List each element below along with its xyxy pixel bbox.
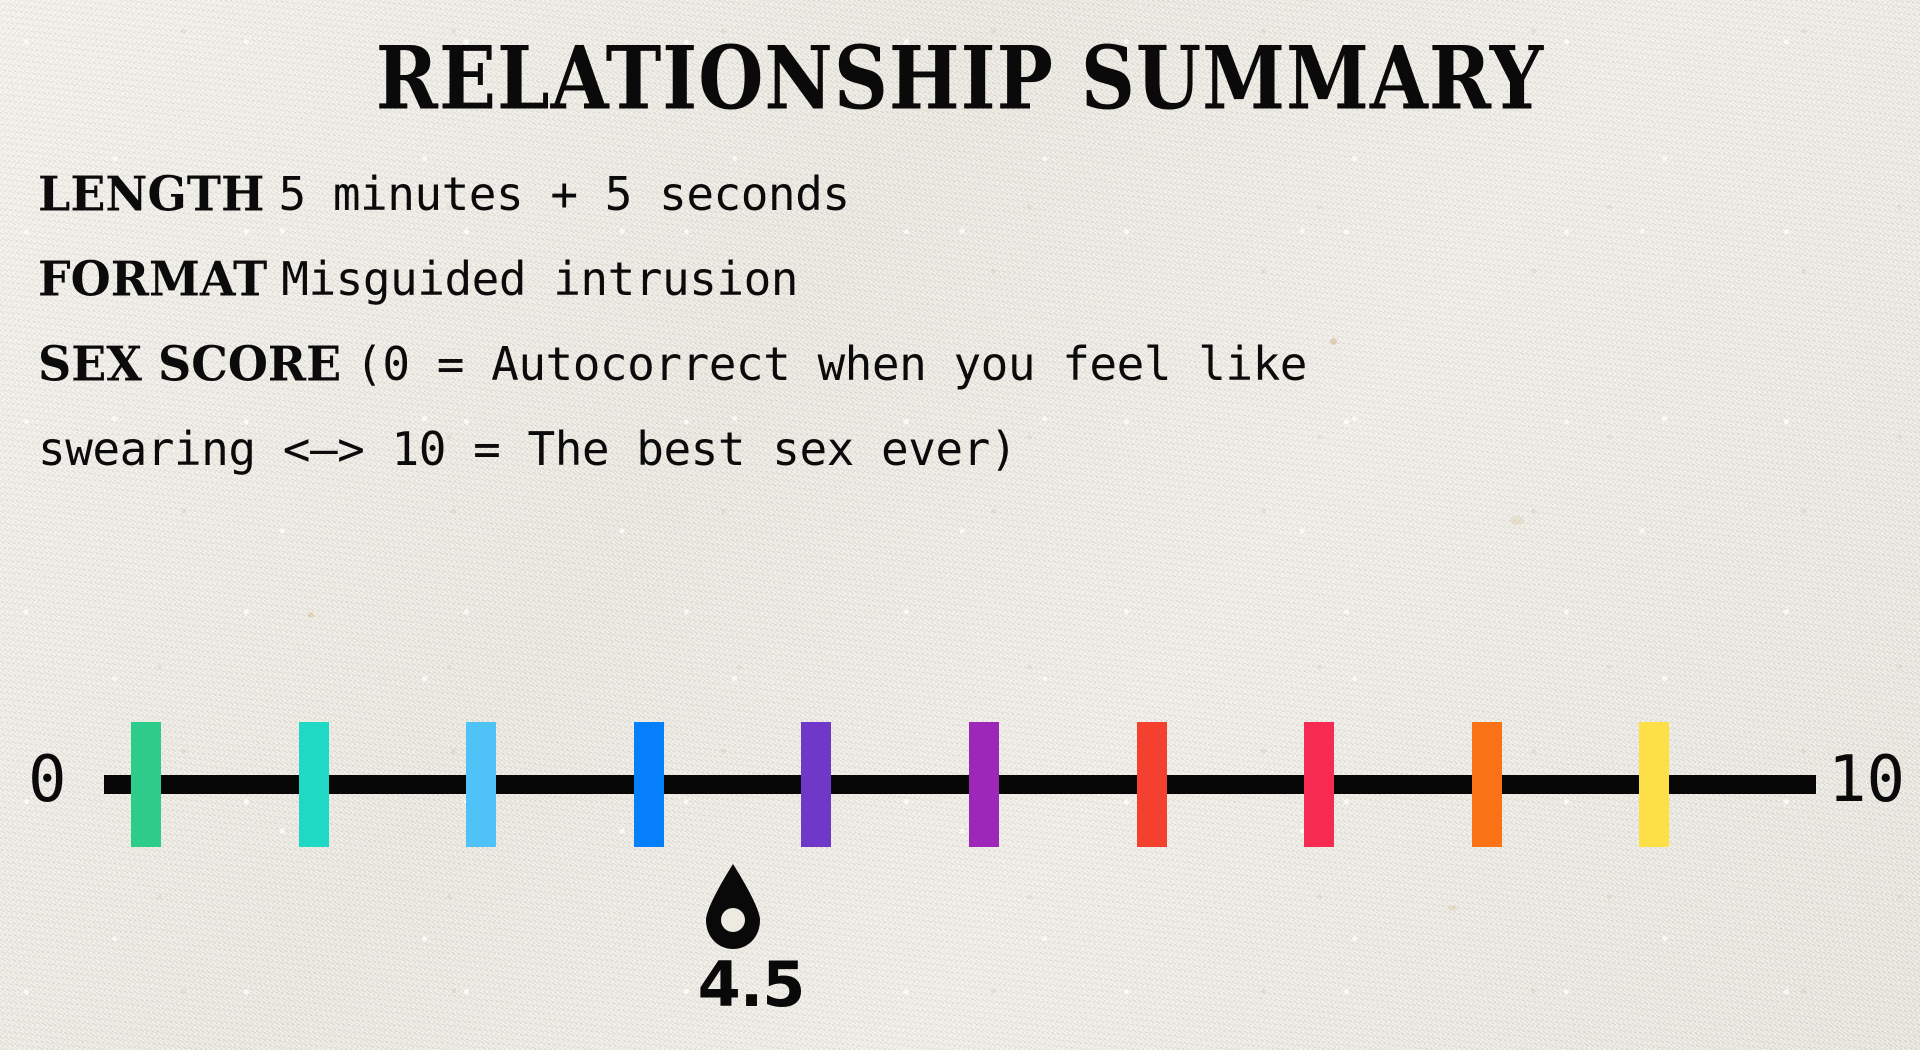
scale-tick-5 <box>801 722 831 847</box>
droplet-icon <box>698 862 768 952</box>
summary-label-length: LENGTH <box>38 150 264 238</box>
summary-block: LENGTH5 minutes + 5 seconds FORMATMisgui… <box>38 152 1738 492</box>
scale-tick-8 <box>1304 722 1334 847</box>
scale-min-label: 0 <box>28 748 67 812</box>
summary-value-continuation: swearing <—> 10 = The best sex ever) <box>38 407 1738 492</box>
scale-tick-9 <box>1472 722 1502 847</box>
scale-tick-3 <box>466 722 496 847</box>
scale-tick-4 <box>634 722 664 847</box>
scale-tick-2 <box>299 722 329 847</box>
scale-axis-line <box>104 775 1816 794</box>
summary-row-length: LENGTH5 minutes + 5 seconds <box>38 152 1738 237</box>
scale-tick-10 <box>1639 722 1669 847</box>
paper-blotch <box>308 612 314 618</box>
scale-max-label: 10 <box>1828 748 1905 812</box>
summary-value-format: Misguided intrusion <box>267 252 798 306</box>
scale-tick-1 <box>131 722 161 847</box>
paper-blotch <box>1448 905 1457 911</box>
scale-tick-6 <box>969 722 999 847</box>
score-marker: 4.5 <box>698 862 768 1042</box>
summary-row-format: FORMATMisguided intrusion <box>38 237 1738 322</box>
droplet-icon-svg <box>698 862 768 952</box>
scale-tick-7 <box>1137 722 1167 847</box>
score-marker-value: 4.5 <box>698 954 768 1016</box>
paper-sheet: RELATIONSHIP SUMMARY LENGTH5 minutes + 5… <box>0 0 1920 1050</box>
summary-label-format: FORMAT <box>38 235 267 323</box>
summary-value-sex-score: (0 = Autocorrect when you feel like <box>341 337 1307 391</box>
summary-value-length: 5 minutes + 5 seconds <box>264 167 849 221</box>
summary-label-sex-score: SEX SCORE <box>38 320 341 408</box>
paper-blotch <box>1510 516 1524 525</box>
page-title: RELATIONSHIP SUMMARY <box>38 28 1881 130</box>
summary-row-sex-score: SEX SCORE(0 = Autocorrect when you feel … <box>38 322 1738 407</box>
